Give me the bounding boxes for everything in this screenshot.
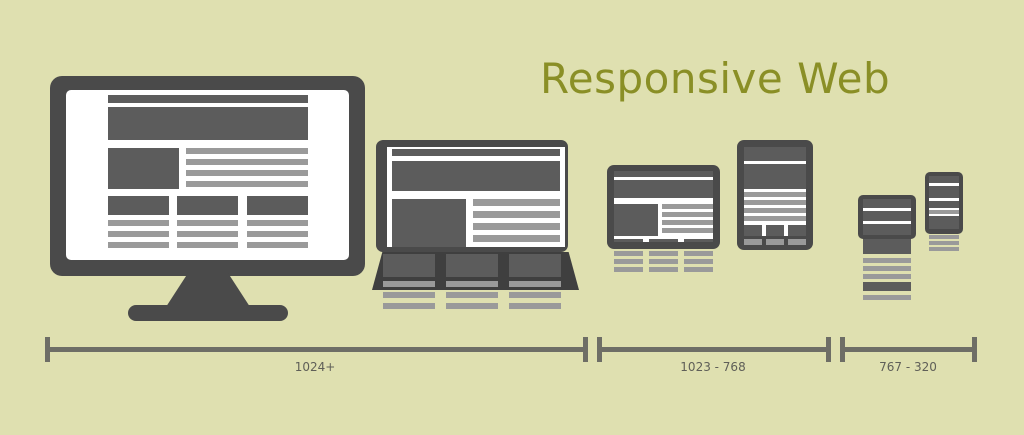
content-text-line bbox=[186, 170, 308, 176]
content-navbar bbox=[392, 149, 560, 156]
content-card-line bbox=[614, 251, 643, 256]
phone-landscape-overflow-content bbox=[863, 239, 911, 299]
laptop bbox=[372, 140, 584, 305]
content-navbar bbox=[614, 171, 713, 177]
content-card-image bbox=[446, 254, 498, 277]
content-card-line bbox=[108, 231, 169, 237]
tablet-landscape-bezel bbox=[607, 165, 720, 249]
content-card-line bbox=[649, 259, 678, 264]
content-card-image bbox=[863, 239, 911, 254]
content-feature-image bbox=[929, 201, 959, 208]
tablet-landscape bbox=[607, 165, 720, 273]
content-card-line bbox=[684, 267, 713, 272]
ruler-tick bbox=[826, 337, 831, 362]
content-navbar bbox=[108, 95, 308, 103]
content-card-line bbox=[684, 259, 713, 264]
page-title: Responsive Web bbox=[540, 54, 880, 103]
phone-portrait-overflow-content bbox=[929, 234, 959, 256]
content-card-line bbox=[788, 239, 806, 245]
content-text-line bbox=[473, 235, 560, 242]
content-card-line bbox=[863, 266, 911, 271]
content-card-image bbox=[684, 239, 713, 242]
content-card-line bbox=[509, 281, 561, 287]
content-card-line bbox=[446, 303, 498, 309]
content-card-line bbox=[744, 239, 762, 245]
content-text-line bbox=[662, 220, 713, 225]
content-navbar bbox=[863, 199, 911, 208]
content-text-line bbox=[186, 159, 308, 165]
laptop-bezel bbox=[376, 140, 568, 252]
content-hero bbox=[108, 107, 308, 140]
content-card-image bbox=[509, 254, 561, 277]
content-card-image bbox=[929, 216, 959, 229]
content-card-line bbox=[863, 258, 911, 263]
content-card-line bbox=[108, 220, 169, 226]
content-text-line bbox=[473, 199, 560, 206]
content-card-line bbox=[766, 239, 784, 245]
content-text-line bbox=[744, 216, 806, 221]
content-text-line bbox=[929, 210, 959, 214]
content-card-line bbox=[383, 292, 435, 298]
tablet-portrait-screen bbox=[744, 147, 806, 236]
phone-landscape-bezel bbox=[858, 195, 916, 239]
content-hero bbox=[392, 161, 560, 191]
content-card-line bbox=[863, 274, 911, 279]
content-card-line bbox=[383, 281, 435, 287]
content-text-line bbox=[473, 211, 560, 218]
content-card-line bbox=[383, 303, 435, 309]
breakpoint-ruler: 1024+ 1023 - 768 767 - 320 bbox=[0, 330, 1024, 390]
content-card-line bbox=[929, 241, 959, 245]
content-feature-image bbox=[108, 148, 179, 189]
content-text-line bbox=[186, 181, 308, 187]
content-card-image bbox=[788, 225, 806, 236]
content-card-line bbox=[177, 231, 238, 237]
content-text-line bbox=[473, 223, 560, 230]
desktop-screen bbox=[66, 90, 349, 260]
content-card-image bbox=[108, 196, 169, 215]
content-card-line bbox=[863, 295, 911, 300]
content-card-line bbox=[509, 303, 561, 309]
ruler-label-phone: 767 - 320 bbox=[840, 360, 976, 374]
content-card-line bbox=[247, 242, 308, 248]
ruler-bar bbox=[843, 347, 974, 352]
content-card-line bbox=[108, 242, 169, 248]
ruler-label-desktop: 1024+ bbox=[45, 360, 585, 374]
content-feature-image bbox=[614, 204, 658, 236]
content-card-image bbox=[177, 196, 238, 215]
tablet-landscape-screen bbox=[614, 171, 713, 242]
laptop-overflow-content bbox=[383, 252, 561, 304]
content-card-image bbox=[614, 239, 643, 242]
content-text-line bbox=[744, 208, 806, 213]
content-card-line bbox=[929, 247, 959, 251]
responsive-web-infographic: Responsive Web bbox=[0, 0, 1024, 435]
content-card-line bbox=[177, 220, 238, 226]
content-card-line bbox=[684, 251, 713, 256]
content-card-image bbox=[649, 239, 678, 242]
content-text-line bbox=[662, 228, 713, 233]
content-text-line bbox=[744, 200, 806, 205]
content-card-line bbox=[509, 292, 561, 298]
content-hero bbox=[614, 180, 713, 198]
content-feature-image bbox=[392, 199, 466, 247]
laptop-screen bbox=[387, 147, 565, 247]
ruler-tick bbox=[972, 337, 977, 362]
content-hero bbox=[929, 186, 959, 198]
content-feature-image bbox=[863, 224, 911, 235]
content-hero bbox=[863, 211, 911, 221]
ruler-bar bbox=[48, 347, 585, 352]
phone-portrait bbox=[925, 172, 963, 254]
content-card-line bbox=[614, 267, 643, 272]
ruler-bar bbox=[600, 347, 828, 352]
content-card-line bbox=[177, 242, 238, 248]
phone-landscape-screen bbox=[863, 199, 911, 235]
ruler-tick bbox=[583, 337, 588, 362]
tablet-portrait-bezel bbox=[737, 140, 813, 250]
content-card-line bbox=[649, 267, 678, 272]
content-card-line bbox=[649, 251, 678, 256]
ruler-label-tablet: 1023 - 768 bbox=[597, 360, 829, 374]
content-text-line bbox=[662, 204, 713, 209]
content-text-line bbox=[186, 148, 308, 154]
desktop-stand-foot bbox=[128, 305, 288, 321]
content-card-image bbox=[744, 225, 762, 236]
content-card-image bbox=[247, 196, 308, 215]
content-card-image bbox=[766, 225, 784, 236]
content-card-line bbox=[247, 220, 308, 226]
tablet-portrait bbox=[737, 140, 813, 255]
content-card-image bbox=[383, 254, 435, 277]
content-card-line bbox=[929, 235, 959, 239]
desktop-monitor bbox=[50, 76, 365, 323]
content-card-line bbox=[247, 231, 308, 237]
tablet-landscape-overflow-content bbox=[614, 249, 713, 275]
phone-landscape bbox=[858, 195, 916, 300]
content-card-image bbox=[863, 282, 911, 291]
phone-portrait-screen bbox=[929, 176, 959, 229]
phone-portrait-bezel bbox=[925, 172, 963, 234]
content-text-line bbox=[662, 212, 713, 217]
content-card-line bbox=[446, 292, 498, 298]
content-hero bbox=[744, 164, 806, 189]
content-text-line bbox=[744, 192, 806, 197]
content-card-line bbox=[446, 281, 498, 287]
content-card-line bbox=[614, 259, 643, 264]
desktop-bezel bbox=[50, 76, 365, 276]
content-navbar bbox=[929, 176, 959, 183]
content-navbar bbox=[744, 147, 806, 161]
